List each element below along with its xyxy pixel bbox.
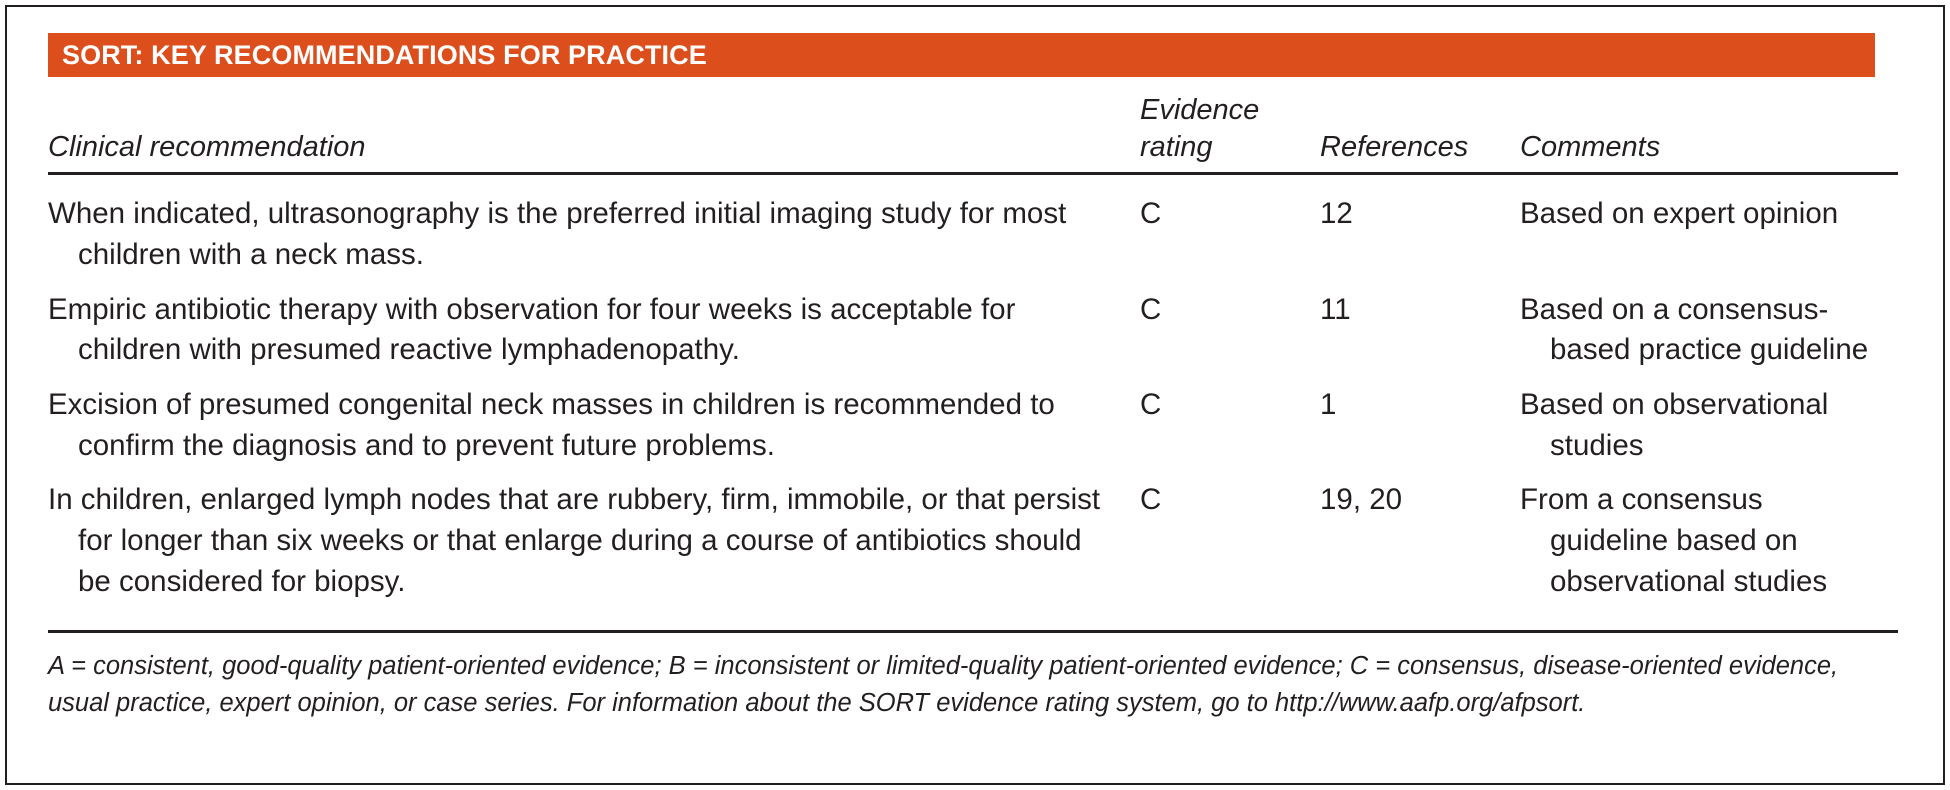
- cell-evidence-rating: C: [1140, 466, 1320, 602]
- comments-line-1: Based on a consensus-: [1520, 290, 1898, 331]
- cell-evidence-rating: C: [1140, 276, 1320, 371]
- cell-recommendation: When indicated, ultrasonography is the p…: [48, 174, 1140, 276]
- cell-comments: Based on a consensus- based practice gui…: [1520, 276, 1898, 371]
- column-header-evidence-rating: Evidence rating: [1140, 77, 1320, 174]
- cell-evidence-rating: C: [1140, 371, 1320, 466]
- recommendation-text: Empiric antibiotic therapy with observat…: [48, 290, 1118, 371]
- comments-line-1: Based on observational: [1520, 385, 1898, 426]
- cell-comments: Based on expert opinion: [1520, 174, 1898, 276]
- comments-line-2: based practice guideline: [1520, 330, 1898, 371]
- cell-evidence-rating: C: [1140, 174, 1320, 276]
- column-header-comments: Comments: [1520, 77, 1898, 174]
- table-row: Excision of presumed congenital neck mas…: [48, 371, 1898, 466]
- cell-recommendation: Excision of presumed congenital neck mas…: [48, 371, 1140, 466]
- evidence-rating-label-line2: rating: [1140, 131, 1213, 163]
- comments-line-3: observational studies: [1520, 562, 1898, 603]
- sort-table: Clinical recommendation Evidence rating …: [48, 77, 1898, 602]
- comments-line-1: From a consensus: [1520, 480, 1898, 521]
- cell-comments: From a consensus guideline based on obse…: [1520, 466, 1898, 602]
- comments-line-2: guideline based on: [1520, 521, 1898, 562]
- comments-line-2: studies: [1520, 426, 1898, 467]
- recommendation-line-1: In children, enlarged lymph nodes that a…: [48, 483, 948, 516]
- cell-references: 12: [1320, 174, 1520, 276]
- table-row: In children, enlarged lymph nodes that a…: [48, 466, 1898, 602]
- recommendation-line-1: When indicated, ultrasonography is the p…: [48, 197, 952, 230]
- footnote-line-1: A = consistent, good-quality patient-ori…: [48, 652, 1722, 680]
- recommendation-text: In children, enlarged lymph nodes that a…: [48, 480, 1118, 602]
- table-body: When indicated, ultrasonography is the p…: [48, 174, 1898, 603]
- table-row: Empiric antibiotic therapy with observat…: [48, 276, 1898, 371]
- table-row: When indicated, ultrasonography is the p…: [48, 174, 1898, 276]
- table-bottom-rule: [48, 630, 1898, 633]
- cell-recommendation: In children, enlarged lymph nodes that a…: [48, 466, 1140, 602]
- cell-comments: Based on observational studies: [1520, 371, 1898, 466]
- table-title-bar: SORT: KEY RECOMMENDATIONS FOR PRACTICE: [48, 33, 1875, 77]
- comments-line-1: Based on expert opinion: [1520, 194, 1898, 235]
- evidence-rating-label-line1: Evidence: [1140, 94, 1259, 126]
- sort-recommendations-table-page: SORT: KEY RECOMMENDATIONS FOR PRACTICE C…: [0, 0, 1950, 790]
- table-footnote: A = consistent, good-quality patient-ori…: [48, 648, 1906, 720]
- cell-recommendation: Empiric antibiotic therapy with observat…: [48, 276, 1140, 371]
- column-header-references: References: [1320, 77, 1520, 174]
- table-header-row: Clinical recommendation Evidence rating …: [48, 77, 1898, 174]
- cell-references: 11: [1320, 276, 1520, 371]
- recommendation-line-1: Empiric antibiotic therapy with observat…: [48, 293, 973, 326]
- table-container: SORT: KEY RECOMMENDATIONS FOR PRACTICE C…: [48, 33, 1906, 721]
- column-header-clinical-recommendation: Clinical recommendation: [48, 77, 1140, 174]
- recommendation-line-1: Excision of presumed congenital neck mas…: [48, 388, 1022, 421]
- cell-references: 1: [1320, 371, 1520, 466]
- cell-references: 19, 20: [1320, 466, 1520, 602]
- recommendation-text: Excision of presumed congenital neck mas…: [48, 385, 1118, 466]
- table-head: Clinical recommendation Evidence rating …: [48, 77, 1898, 174]
- recommendation-text: When indicated, ultrasonography is the p…: [48, 194, 1118, 275]
- table-title: SORT: KEY RECOMMENDATIONS FOR PRACTICE: [62, 40, 707, 71]
